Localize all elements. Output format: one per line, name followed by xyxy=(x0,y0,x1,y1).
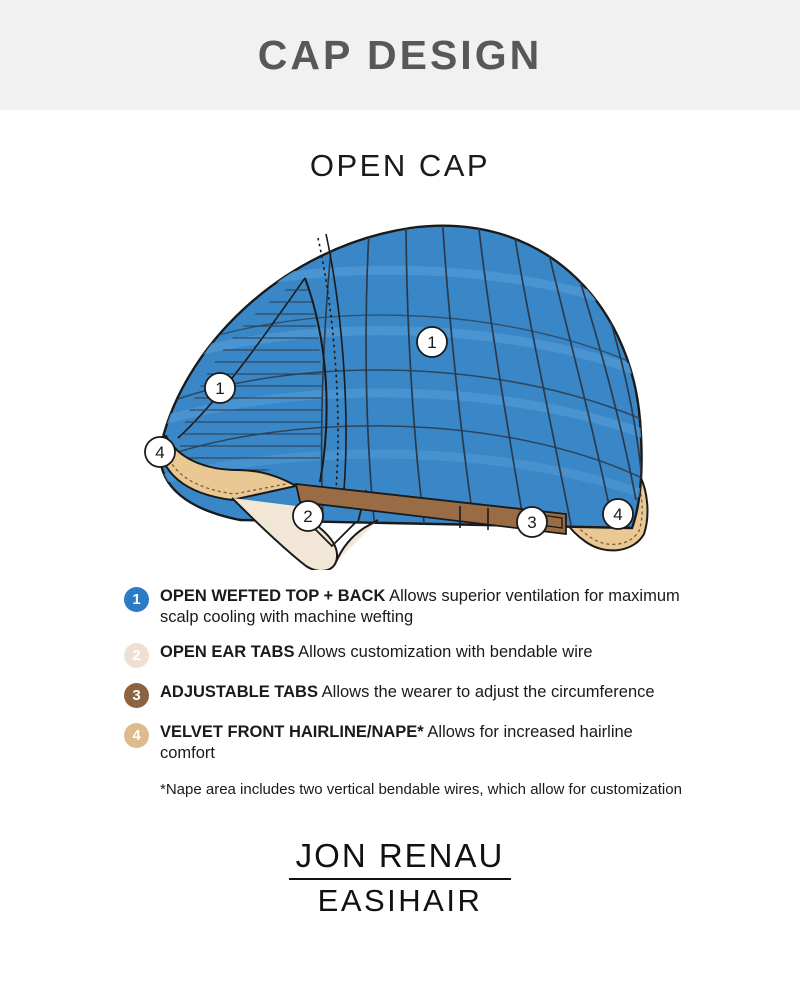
legend-desc-2: Allows customization with bendable wire xyxy=(298,643,592,661)
svg-text:1: 1 xyxy=(427,333,436,352)
legend-item-4[interactable]: 4 VELVET FRONT HAIRLINE/NAPE* Allows for… xyxy=(0,722,800,764)
legend-item-1[interactable]: 1 OPEN WEFTED TOP + BACK Allows superior… xyxy=(0,586,800,628)
subtitle: OPEN CAP xyxy=(310,148,490,183)
legend-text-3: ADJUSTABLE TABS Allows the wearer to adj… xyxy=(160,682,655,703)
legend-desc-3: Allows the wearer to adjust the circumfe… xyxy=(322,683,655,701)
svg-text:4: 4 xyxy=(155,443,164,462)
marker-1-crown: 1 xyxy=(417,327,447,357)
legend-text-1: OPEN WEFTED TOP + BACK Allows superior v… xyxy=(160,586,690,628)
marker-4-right: 4 xyxy=(603,499,633,529)
legend-item-3[interactable]: 3 ADJUSTABLE TABS Allows the wearer to a… xyxy=(0,682,800,708)
marker-3-strap: 3 xyxy=(517,507,547,537)
legend-footnote: *Nape area includes two vertical bendabl… xyxy=(0,780,800,800)
legend-term-1: OPEN WEFTED TOP + BACK xyxy=(160,587,385,605)
page-title: CAP DESIGN xyxy=(258,32,542,79)
legend-term-2: OPEN EAR TABS xyxy=(160,643,294,661)
legend-term-3: ADJUSTABLE TABS xyxy=(160,683,318,701)
legend-text-4: VELVET FRONT HAIRLINE/NAPE* Allows for i… xyxy=(160,722,690,764)
legend-item-2[interactable]: 2 OPEN EAR TABS Allows customization wit… xyxy=(0,642,800,668)
legend-term-4: VELVET FRONT HAIRLINE/NAPE* xyxy=(160,723,424,741)
svg-text:4: 4 xyxy=(613,505,622,524)
legend-badge-2: 2 xyxy=(124,643,149,668)
brand-divider xyxy=(289,878,511,880)
legend-text-2: OPEN EAR TABS Allows customization with … xyxy=(160,642,593,663)
subtitle-wrap: OPEN CAP xyxy=(0,148,800,184)
svg-text:3: 3 xyxy=(527,513,536,532)
marker-1-front: 1 xyxy=(205,373,235,403)
legend-badge-3: 3 xyxy=(124,683,149,708)
brand-name-primary: JON RENAU xyxy=(0,838,800,874)
header-band: CAP DESIGN xyxy=(0,0,800,110)
brand-name-secondary: EASIHAIR xyxy=(0,884,800,918)
marker-2-eartab: 2 xyxy=(293,501,323,531)
legend-list: 1 OPEN WEFTED TOP + BACK Allows superior… xyxy=(0,586,800,800)
marker-4-left: 4 xyxy=(145,437,175,467)
brand-footer: JON RENAU EASIHAIR xyxy=(0,838,800,918)
cap-illustration: 1 1 4 2 3 4 xyxy=(0,190,800,580)
legend-badge-4: 4 xyxy=(124,723,149,748)
svg-text:1: 1 xyxy=(215,379,224,398)
legend-badge-1: 1 xyxy=(124,587,149,612)
open-cap-svg: 1 1 4 2 3 4 xyxy=(120,190,680,570)
svg-text:2: 2 xyxy=(303,507,312,526)
